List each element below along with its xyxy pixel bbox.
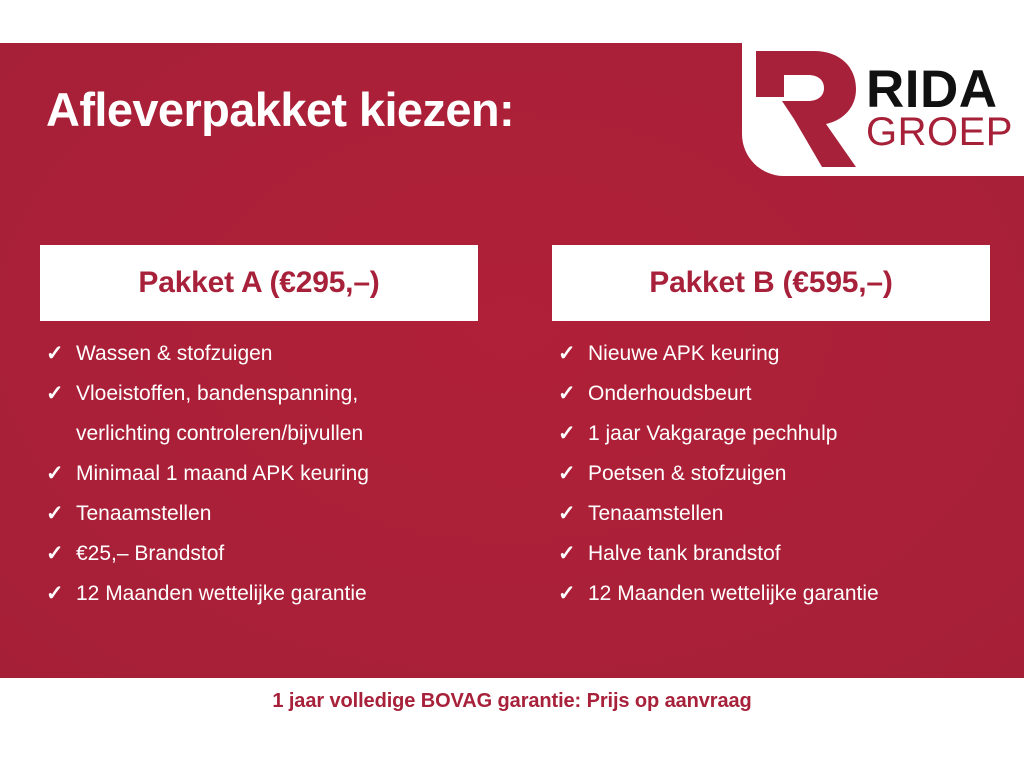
page-title: Afleverpakket kiezen: [46, 82, 514, 137]
package-card-b: Pakket B (€595,–) ✓ Nieuwe APK keuring ✓… [552, 245, 990, 614]
rida-r-logo-icon [752, 49, 860, 169]
package-b-header: Pakket B (€595,–) [552, 245, 990, 321]
check-icon: ✓ [558, 534, 588, 574]
list-item: ✓ Poetsen & stofzuigen [552, 454, 990, 494]
check-icon: ✓ [46, 374, 76, 414]
list-item: ✓ Tenaamstellen [40, 494, 478, 534]
brand-logo-panel: RIDA GROEP [742, 43, 1024, 176]
list-item-label: Wassen & stofzuigen [76, 334, 478, 374]
packages-container: Pakket A (€295,–) ✓ Wassen & stofzuigen … [0, 245, 1024, 614]
check-icon: ✓ [46, 334, 76, 374]
list-item: ✓ Minimaal 1 maand APK keuring [40, 454, 478, 494]
list-item: ✓ Halve tank brandstof [552, 534, 990, 574]
list-item: ✓ 12 Maanden wettelijke garantie [40, 574, 478, 614]
list-item-label: Tenaamstellen [76, 494, 478, 534]
check-icon: ✓ [558, 374, 588, 414]
package-a-header: Pakket A (€295,–) [40, 245, 478, 321]
check-icon: ✓ [558, 574, 588, 614]
package-b-title: Pakket B (€595,–) [649, 266, 892, 300]
list-item: ✓ Tenaamstellen [552, 494, 990, 534]
brand-name-secondary: GROEP [866, 115, 1013, 150]
list-item: ✓ Nieuwe APK keuring [552, 334, 990, 374]
check-icon: ✓ [46, 494, 76, 534]
check-icon: ✓ [46, 454, 76, 494]
package-card-a: Pakket A (€295,–) ✓ Wassen & stofzuigen … [40, 245, 478, 614]
list-item-label: Halve tank brandstof [588, 534, 990, 574]
check-icon: ✓ [46, 574, 76, 614]
list-item-label: Nieuwe APK keuring [588, 334, 990, 374]
check-icon: ✓ [558, 414, 588, 454]
check-icon: ✓ [46, 534, 76, 574]
brand-name-primary: RIDA [866, 67, 998, 114]
slide-root: RIDA GROEP Afleverpakket kiezen: Pakket … [0, 0, 1024, 768]
list-item-label: 12 Maanden wettelijke garantie [588, 574, 990, 614]
list-item: ✓ 1 jaar Vakgarage pechhulp [552, 414, 990, 454]
list-item-label: Tenaamstellen [588, 494, 990, 534]
package-a-title: Pakket A (€295,–) [138, 266, 379, 300]
package-a-feature-list: ✓ Wassen & stofzuigen ✓ Vloeistoffen, ba… [40, 334, 478, 614]
list-item-label: 1 jaar Vakgarage pechhulp [588, 414, 990, 454]
check-icon: ✓ [558, 454, 588, 494]
list-item-label: Vloeistoffen, bandenspanning, verlichtin… [76, 374, 478, 454]
package-b-feature-list: ✓ Nieuwe APK keuring ✓ Onderhoudsbeurt ✓… [552, 334, 990, 614]
list-item-label: Onderhoudsbeurt [588, 374, 990, 414]
brand-wordmark: RIDA GROEP [866, 67, 1013, 151]
list-item-label: Minimaal 1 maand APK keuring [76, 454, 478, 494]
list-item-label: Poetsen & stofzuigen [588, 454, 990, 494]
list-item: ✓ 12 Maanden wettelijke garantie [552, 574, 990, 614]
list-item: ✓ Wassen & stofzuigen [40, 334, 478, 374]
list-item-label: €25,– Brandstof [76, 534, 478, 574]
check-icon: ✓ [558, 334, 588, 374]
list-item-label: 12 Maanden wettelijke garantie [76, 574, 478, 614]
footer-bar: 1 jaar volledige BOVAG garantie: Prijs o… [0, 678, 1024, 768]
footer-note: 1 jaar volledige BOVAG garantie: Prijs o… [272, 690, 751, 713]
list-item: ✓ €25,– Brandstof [40, 534, 478, 574]
list-item: ✓ Vloeistoffen, bandenspanning, verlicht… [40, 374, 478, 454]
check-icon: ✓ [558, 494, 588, 534]
list-item: ✓ Onderhoudsbeurt [552, 374, 990, 414]
